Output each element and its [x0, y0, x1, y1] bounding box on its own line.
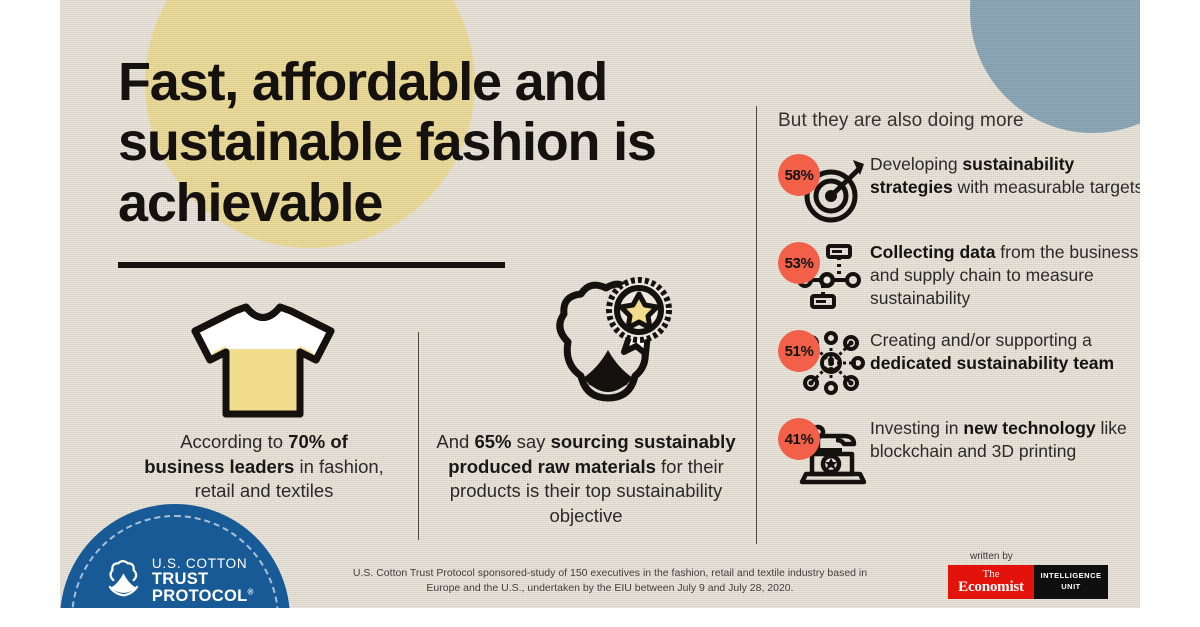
- bullet-text: Developing sustainability strategies wit…: [870, 152, 1140, 199]
- title-underline: [118, 262, 505, 268]
- economist-name: Economist: [958, 580, 1024, 595]
- stat-center-mid: say: [511, 431, 550, 452]
- written-by-label: written by: [970, 551, 1013, 562]
- bullet-text-pre: Creating and/or supporting a: [870, 330, 1092, 350]
- bullet-text-bold: dedicated sustainability team: [870, 353, 1114, 373]
- ctp-lockup: U.S. COTTON TRUST PROTOCOL®: [104, 556, 290, 606]
- stat-left-pre: According to: [180, 431, 288, 452]
- cotton-boll-award-icon: [538, 272, 678, 427]
- right-column-title: But they are also doing more: [778, 110, 1024, 132]
- bullet-text-pre: Investing in: [870, 418, 963, 438]
- bullet-list: 58% Developing sustainability strategies…: [778, 152, 1140, 504]
- stat-center-pre: And: [436, 431, 474, 452]
- stat-center-text: And 65% say sourcing sustainably produce…: [432, 430, 740, 528]
- cotton-boll-hand-icon: [104, 556, 143, 606]
- bullet-text-bold: new technology: [963, 418, 1095, 438]
- eiu-line-2: UNIT: [1061, 582, 1081, 593]
- list-item: 58% Developing sustainability strategies…: [778, 152, 1140, 228]
- percent-badge: 58%: [778, 154, 820, 196]
- economist-block: The Economist: [948, 565, 1034, 599]
- percent-badge: 41%: [778, 418, 820, 460]
- list-item: 41% Investing in new technology like blo…: [778, 416, 1140, 492]
- bullet-icon-wrap: 51%: [778, 328, 870, 402]
- infographic-canvas: Fast, affordable and sustainable fashion…: [60, 0, 1140, 608]
- ctp-line-1: U.S. COTTON: [152, 557, 290, 571]
- infographic-root: Fast, affordable and sustainable fashion…: [0, 0, 1200, 627]
- list-item: 53% Collecting data from the business an…: [778, 240, 1140, 316]
- registered-mark: ®: [248, 587, 254, 596]
- bullet-text: Creating and/or supporting a dedicated s…: [870, 328, 1140, 375]
- bullet-text-bold: Collecting data: [870, 242, 995, 262]
- eiu-line-1: INTELLIGENCE: [1040, 571, 1101, 582]
- bullet-text: Collecting data from the business and su…: [870, 240, 1140, 309]
- intelligence-unit-block: INTELLIGENCE UNIT: [1034, 565, 1108, 599]
- ctp-line-2: TRUST PROTOCOL®: [152, 571, 290, 605]
- page-title: Fast, affordable and sustainable fashion…: [118, 52, 758, 233]
- source-footnote: U.S. Cotton Trust Protocol sponsored-stu…: [350, 566, 870, 596]
- stat-center-bold-1: 65%: [474, 431, 511, 452]
- bullet-text-pre: Developing: [870, 154, 962, 174]
- bullet-text-post: with measurable targets: [953, 177, 1140, 197]
- stat-left-text: According to 70% of business leaders in …: [140, 430, 388, 504]
- ctp-wordmark: U.S. COTTON TRUST PROTOCOL®: [152, 557, 290, 604]
- economist-intelligence-unit-logo: The Economist INTELLIGENCE UNIT: [948, 565, 1108, 599]
- bullet-icon-wrap: 58%: [778, 152, 870, 226]
- divider-left-center: [418, 332, 419, 540]
- bullet-icon-wrap: 41%: [778, 416, 870, 490]
- bullet-text: Investing in new technology like blockch…: [870, 416, 1140, 463]
- ctp-line-2-text: TRUST PROTOCOL: [152, 570, 248, 605]
- percent-badge: 53%: [778, 242, 820, 284]
- divider-center-right: [756, 106, 757, 544]
- percent-badge: 51%: [778, 330, 820, 372]
- bullet-icon-wrap: 53%: [778, 240, 870, 314]
- us-cotton-trust-protocol-logo: U.S. COTTON TRUST PROTOCOL®: [60, 504, 290, 608]
- list-item: 51% Creating and/or supporting a dedicat…: [778, 328, 1140, 404]
- t-shirt-icon: [188, 302, 338, 425]
